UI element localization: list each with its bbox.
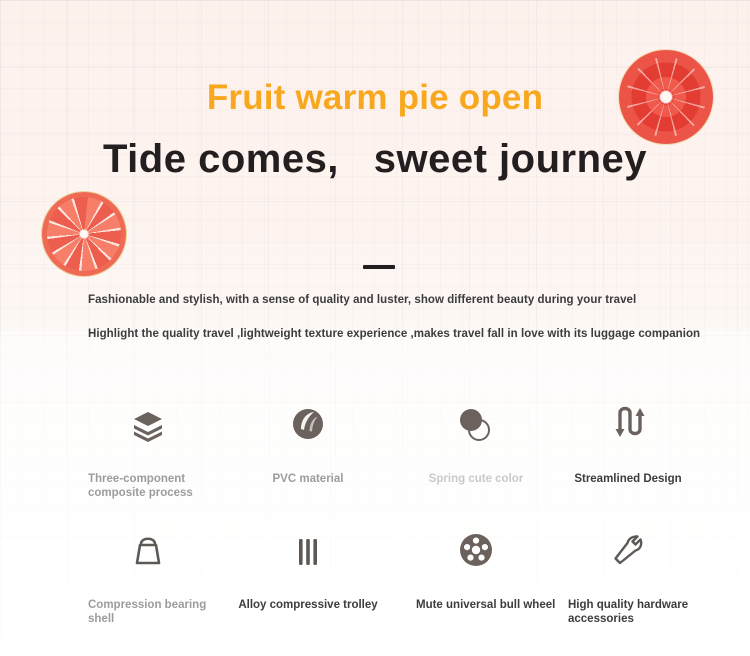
feature-item-hardware-accessories: High quality hardware accessories [548, 524, 708, 626]
feature-label: Spring cute color [396, 472, 556, 486]
feature-label: Three-component composite process [68, 472, 228, 500]
feature-item-pvc-material: PVC material [228, 398, 388, 486]
feature-item-streamlined-design: Streamlined Design [548, 398, 708, 486]
feature-row: Compression bearing shell Alloy compress… [0, 524, 750, 650]
wheel-icon [396, 524, 556, 576]
feature-item-composite-process: Three-component composite process [68, 398, 228, 500]
feature-label: High quality hardware accessories [548, 598, 708, 626]
feature-item-universal-wheel: Mute universal bull wheel [396, 524, 556, 612]
feature-label: Streamlined Design [548, 472, 708, 486]
feature-label: PVC material [228, 472, 388, 486]
feature-label: Alloy compressive trolley [228, 598, 388, 612]
feature-row: Three-component composite process PVC ma… [0, 398, 750, 524]
feature-item-alloy-trolley: Alloy compressive trolley [228, 524, 388, 612]
page-title: Fruit warm pie open [0, 78, 750, 118]
feature-grid: Three-component composite process PVC ma… [0, 398, 750, 650]
three-bars-trolley-icon [228, 524, 388, 576]
pvc-swirl-icon [228, 398, 388, 450]
citrus-core [79, 229, 89, 239]
streamline-arrows-icon [548, 398, 708, 450]
title-divider-dash [363, 265, 395, 269]
wrench-icon [548, 524, 708, 576]
description-line-1: Fashionable and stylish, with a sense of… [88, 294, 636, 306]
feature-item-compression-shell: Compression bearing shell [68, 524, 228, 626]
feature-item-spring-cute-color: Spring cute color [396, 398, 556, 486]
grapefruit-slice-left-icon [42, 192, 126, 276]
page-subtitle: Tide comes, sweet journey [0, 137, 750, 182]
layers-icon [68, 398, 228, 450]
two-circles-color-icon [396, 398, 556, 450]
handbag-icon [68, 524, 228, 576]
feature-label: Compression bearing shell [68, 598, 228, 626]
description-line-2: Highlight the quality travel ,lightweigh… [88, 328, 700, 340]
promo-banner: Fruit warm pie open Tide comes, sweet jo… [0, 0, 750, 656]
feature-label: Mute universal bull wheel [396, 598, 556, 612]
